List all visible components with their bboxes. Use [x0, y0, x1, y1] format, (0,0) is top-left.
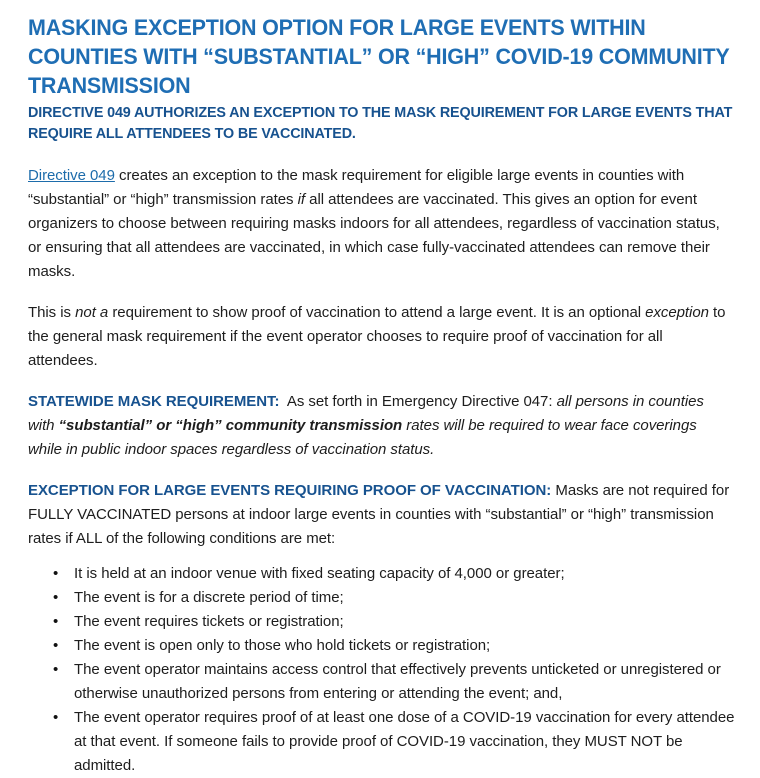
- spacer: [28, 373, 738, 390]
- bullet-icon: •: [53, 634, 58, 658]
- spacer: [28, 462, 738, 479]
- exception-section: EXCEPTION FOR LARGE EVENTS REQUIRING PRO…: [28, 479, 734, 551]
- page-title: MASKING EXCEPTION OPTION FOR LARGE EVENT…: [28, 13, 739, 100]
- spacer: [28, 284, 738, 301]
- spacer: [28, 551, 738, 562]
- bullet-icon: •: [53, 586, 58, 610]
- list-item-text: The event is for a discrete period of ti…: [74, 589, 344, 606]
- list-item-text: The event operator maintains access cont…: [74, 661, 721, 702]
- conditions-list: •It is held at an indoor venue with fixe…: [28, 562, 738, 778]
- list-item-text: The event is open only to those who hold…: [74, 637, 490, 654]
- list-item: •The event is for a discrete period of t…: [28, 586, 738, 610]
- list-item: •It is held at an indoor venue with fixe…: [28, 562, 738, 586]
- second-paragraph: This is not a requirement to show proof …: [28, 301, 734, 373]
- second-italic-exception: exception: [645, 304, 709, 321]
- list-item-text: It is held at an indoor venue with fixed…: [74, 565, 565, 582]
- spacer: [28, 144, 738, 164]
- intro-paragraph: Directive 049 creates an exception to th…: [28, 164, 734, 284]
- list-item: •The event operator requires proof of at…: [28, 706, 738, 778]
- directive-049-link[interactable]: Directive 049: [28, 167, 115, 184]
- second-text-part-1: This is: [28, 304, 75, 321]
- bullet-icon: •: [53, 706, 58, 730]
- list-item: •The event requires tickets or registrat…: [28, 610, 738, 634]
- statewide-heading: STATEWIDE MASK REQUIREMENT:: [28, 393, 279, 410]
- intro-italic-if: if: [298, 191, 305, 208]
- list-item: •The event is open only to those who hol…: [28, 634, 738, 658]
- statewide-bold-italic-phrase: “substantial” or “high” community transm…: [59, 417, 403, 434]
- statewide-mask-requirement-section: STATEWIDE MASK REQUIREMENT: As set forth…: [28, 390, 734, 462]
- page-subtitle: DIRECTIVE 049 AUTHORIZES AN EXCEPTION TO…: [28, 102, 760, 144]
- document-page: MASKING EXCEPTION OPTION FOR LARGE EVENT…: [0, 0, 760, 639]
- second-italic-not-a: not a: [75, 304, 108, 321]
- list-item-text: The event requires tickets or registrati…: [74, 613, 344, 630]
- statewide-lead-in: As set forth in Emergency Directive 047:: [287, 393, 553, 410]
- bullet-icon: •: [53, 658, 58, 682]
- bullet-icon: •: [53, 610, 58, 634]
- list-item-text: The event operator requires proof of at …: [74, 709, 734, 774]
- list-item: •The event operator maintains access con…: [28, 658, 738, 706]
- bullet-icon: •: [53, 562, 58, 586]
- second-text-part-2: requirement to show proof of vaccination…: [108, 304, 645, 321]
- statewide-spacer: [279, 393, 286, 410]
- exception-heading: EXCEPTION FOR LARGE EVENTS REQUIRING PRO…: [28, 482, 551, 499]
